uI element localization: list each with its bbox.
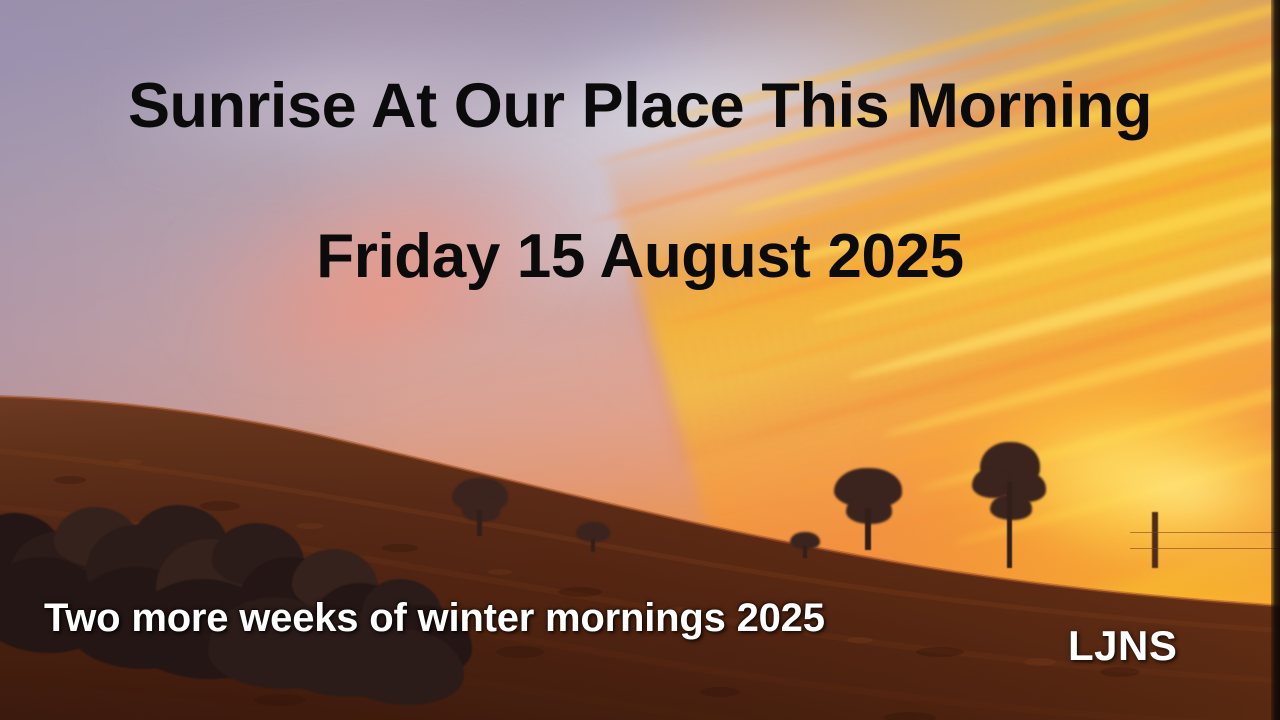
- fence-post-right: [1152, 512, 1158, 568]
- ridge-scrub-right: [790, 532, 820, 558]
- caption-text: Two more weeks of winter mornings 2025: [44, 598, 825, 638]
- watermark-ljns: LJNS: [1068, 625, 1177, 667]
- lone-tree-ridge-right: [972, 442, 1046, 570]
- fence-wire-upper: [1130, 532, 1280, 533]
- title-line-2: Friday 15 August 2025: [0, 226, 1280, 288]
- title-line-1: Sunrise At Our Place This Morning: [0, 75, 1280, 138]
- fence-wire-lower: [1130, 548, 1280, 549]
- lone-tree-ridge-centre: [450, 478, 510, 538]
- ridge-scrub-centre: [576, 522, 610, 552]
- sunrise-photo-slide: Sunrise At Our Place This Morning Friday…: [0, 0, 1280, 720]
- lone-tree-ridge-right-inner: [830, 468, 906, 552]
